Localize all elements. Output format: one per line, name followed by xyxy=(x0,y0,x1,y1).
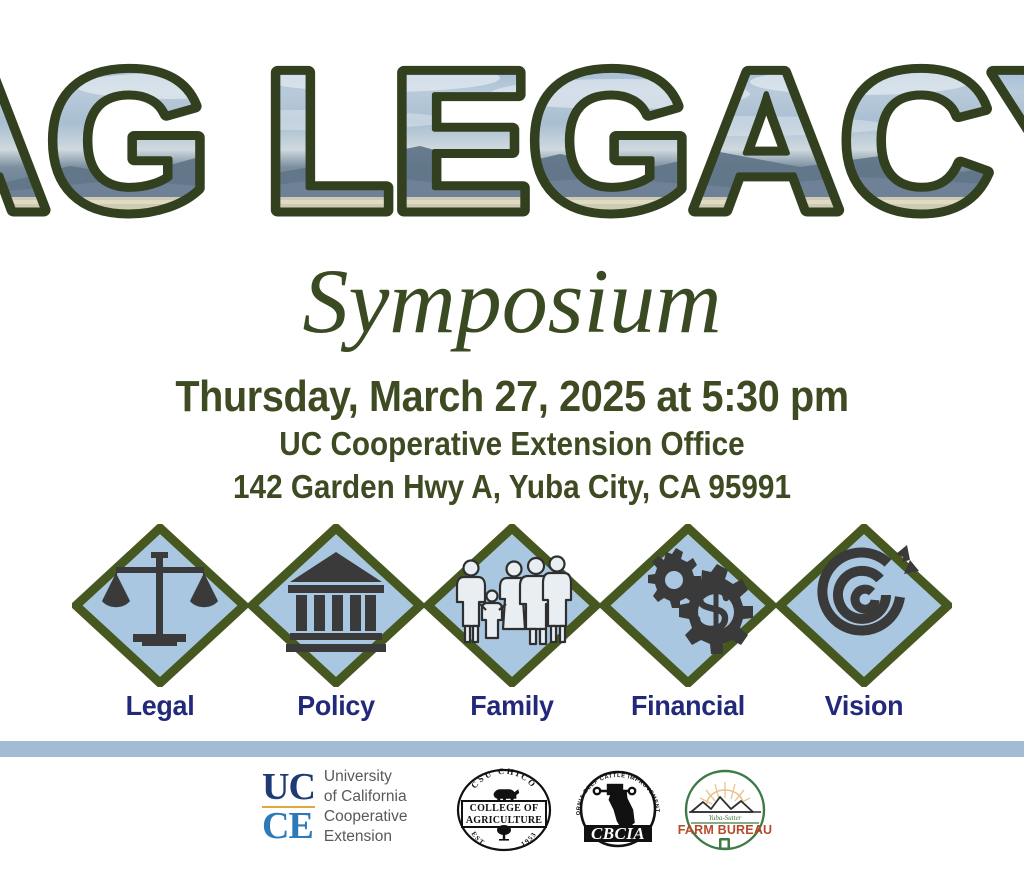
diamond-legal xyxy=(72,524,248,687)
ucce-wordmark: University of California Cooperative Ext… xyxy=(324,767,408,848)
event-venue: UC Cooperative Extension Office xyxy=(51,423,973,464)
chico-seal-icon: CSU CHICO COLLEGE OF AGRICULTURE EST. xyxy=(452,766,556,854)
family-group-icon xyxy=(424,524,600,687)
cbcia-banner-text: CBCIA xyxy=(591,824,645,843)
blue-divider-band xyxy=(0,741,1024,757)
poster-canvas: AG LEGACY AG LEGACY xyxy=(0,0,1024,878)
pillar-vision[interactable]: Vision xyxy=(776,524,952,739)
farm-bureau-script-text: Yuba-Sutter xyxy=(709,814,742,822)
ucce-line-3: Cooperative xyxy=(324,807,408,827)
diamond-financial xyxy=(600,524,776,687)
cbcia-logo: CALIFORNIA BEEF CATTLE IMPROVEMENT ASSN.… xyxy=(572,767,664,853)
farm-bureau-name-text: FARM BUREAU xyxy=(678,823,773,837)
pillar-label-financial: Financial xyxy=(604,690,773,722)
ucce-monogram: UC CE xyxy=(262,770,315,844)
yuba-sutter-farm-bureau-logo: Yuba-Sutter FARM BUREAU xyxy=(677,764,773,856)
title-inner-outline: AG LEGACY xyxy=(0,34,1024,253)
scales-of-justice-icon xyxy=(72,524,248,687)
target-arrow-icon xyxy=(776,524,952,687)
ucce-logo: UC CE University of California Cooperati… xyxy=(262,767,407,848)
event-details: Thursday, March 27, 2025 at 5:30 pm UC C… xyxy=(0,372,1024,507)
ag-legacy-title-art: AG LEGACY AG LEGACY xyxy=(0,34,1024,256)
ucce-line-4: Extension xyxy=(324,827,408,847)
government-building-icon xyxy=(248,524,424,687)
event-datetime: Thursday, March 27, 2025 at 5:30 pm xyxy=(51,372,973,421)
title-block: AG LEGACY AG LEGACY xyxy=(0,34,1024,256)
pillar-label-family: Family xyxy=(428,690,597,722)
event-address: 142 Garden Hwy A, Yuba City, CA 95991 xyxy=(51,466,973,507)
cbcia-seal-icon: CALIFORNIA BEEF CATTLE IMPROVEMENT ASSN.… xyxy=(572,767,664,853)
diamond-policy xyxy=(248,524,424,687)
diamond-vision xyxy=(776,524,952,687)
pillar-label-vision: Vision xyxy=(780,690,949,722)
gears-dollar-icon xyxy=(600,524,776,687)
csu-chico-college-of-agriculture-logo: CSU CHICO COLLEGE OF AGRICULTURE EST. xyxy=(452,766,556,854)
pillar-family[interactable]: Family xyxy=(424,524,600,739)
ucce-line-1: University xyxy=(324,767,408,787)
pillar-label-policy: Policy xyxy=(252,690,421,722)
chico-line-1: COLLEGE OF xyxy=(470,803,539,814)
pillar-policy[interactable]: Policy xyxy=(248,524,424,739)
ucce-line-2: of California xyxy=(324,787,408,807)
pillar-row: Legal xyxy=(0,524,1024,739)
pillar-label-legal: Legal xyxy=(76,690,245,722)
ucce-ce-text: CE xyxy=(262,809,315,844)
subtitle: Symposium xyxy=(0,255,1024,347)
diamond-family xyxy=(424,524,600,687)
chico-line-2: AGRICULTURE xyxy=(466,815,542,826)
farm-bureau-seal-icon: Yuba-Sutter FARM BUREAU xyxy=(677,764,773,856)
pillar-legal[interactable]: Legal xyxy=(72,524,248,739)
ucce-uc-text: UC xyxy=(262,770,315,805)
pillar-financial[interactable]: Financial xyxy=(600,524,776,739)
sponsor-logo-row: UC CE University of California Cooperati… xyxy=(0,763,1024,863)
